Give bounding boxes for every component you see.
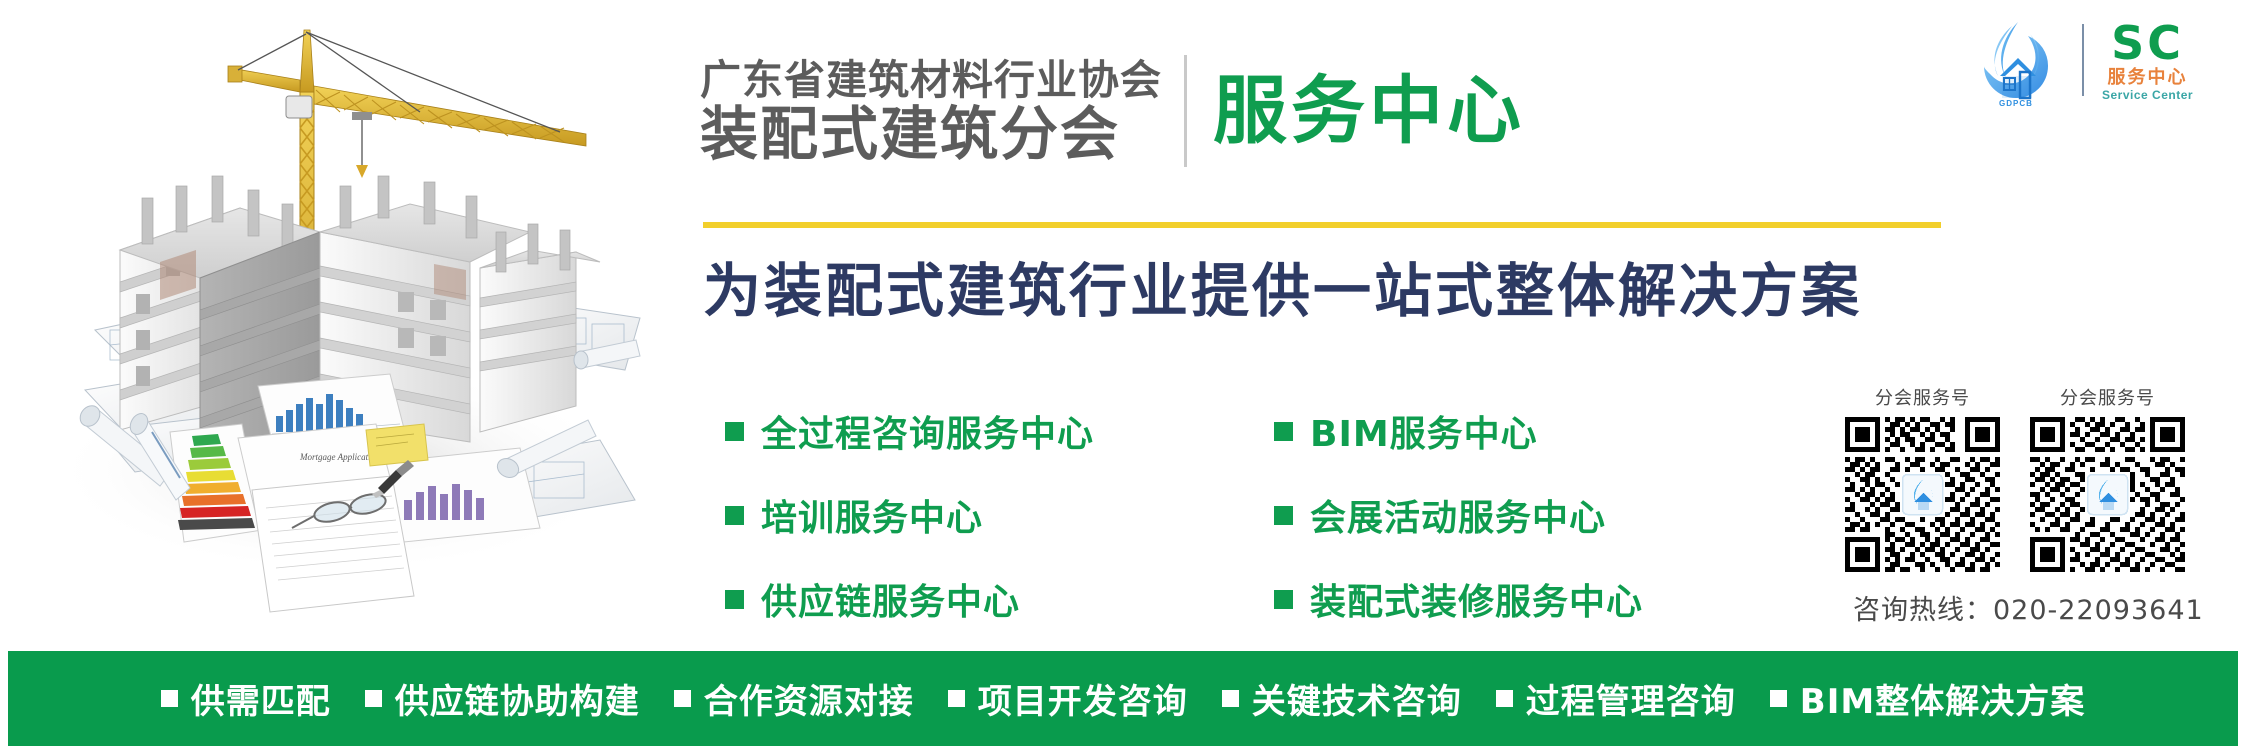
service-item-gongyinglian[interactable]: 供应链服务中心 <box>725 573 1094 625</box>
square-bullet-icon <box>674 690 691 707</box>
bar-item-partner-resource[interactable]: 合作资源对接 <box>674 674 914 723</box>
bar-item-label: 关键技术咨询 <box>1252 674 1462 723</box>
association-name: 广东省建筑材料行业协会 <box>700 60 1162 101</box>
branch-name: 装配式建筑分会 <box>700 105 1120 163</box>
service-item-label: 装配式装修服务中心 <box>1310 573 1643 625</box>
gdpcb-mark-caption: GDPCB <box>1968 99 2064 108</box>
bar-item-label: 供需匹配 <box>191 674 331 723</box>
brand-logo: GDPCB SC 服务中心 Service Center <box>1968 14 2193 106</box>
service-center-lists: 全过程咨询服务中心 培训服务中心 供应链服务中心 BIM服务中心 会展活动服务中… <box>725 405 1775 625</box>
gold-divider-rule <box>703 222 1941 228</box>
qr-code-glyph <box>1845 417 2000 572</box>
service-item-bim[interactable]: BIM服务中心 <box>1274 405 1643 457</box>
sc-lockup: SC 服务中心 Service Center <box>2102 20 2193 101</box>
bar-item-process-management[interactable]: 过程管理咨询 <box>1496 674 1736 723</box>
qr-code-icon[interactable] <box>1845 417 2000 572</box>
svg-text:Mortgage Application: Mortgage Application <box>299 452 380 462</box>
qr-contact-block: 分会服务号 <box>1845 384 2233 627</box>
square-bullet-icon <box>725 422 744 441</box>
service-column-right: BIM服务中心 会展活动服务中心 装配式装修服务中心 <box>1274 405 1643 625</box>
service-column-left: 全过程咨询服务中心 培训服务中心 供应链服务中心 <box>725 405 1094 625</box>
main-slogan: 为装配式建筑行业提供一站式整体解决方案 <box>703 255 1953 328</box>
bar-item-label: 过程管理咨询 <box>1526 674 1736 723</box>
hotline-text: 咨询热线：020-22093641 <box>1845 588 2233 627</box>
square-bullet-icon <box>1222 690 1239 707</box>
bar-item-supply-demand-match[interactable]: 供需匹配 <box>161 674 331 723</box>
square-bullet-icon <box>948 690 965 707</box>
bar-item-key-technology[interactable]: 关键技术咨询 <box>1222 674 1462 723</box>
qr-code-icon[interactable] <box>2030 417 2185 572</box>
bar-item-label: BIM整体解决方案 <box>1800 674 2085 723</box>
service-item-label: 会展活动服务中心 <box>1310 489 1606 541</box>
flame-house-icon: GDPCB <box>1968 14 2064 106</box>
qr-caption: 分会服务号 <box>2060 384 2155 410</box>
bar-item-project-development[interactable]: 项目开发咨询 <box>948 674 1188 723</box>
square-bullet-icon <box>1274 506 1293 525</box>
service-item-label: 全过程咨询服务中心 <box>761 405 1094 457</box>
bar-item-supply-chain-build[interactable]: 供应链协助构建 <box>365 674 640 723</box>
square-bullet-icon <box>365 690 382 707</box>
sticky-note <box>366 424 428 466</box>
bar-item-label: 合作资源对接 <box>704 674 914 723</box>
qr-cell-1: 分会服务号 <box>1845 384 2000 572</box>
square-bullet-icon <box>725 590 744 609</box>
square-bullet-icon <box>1274 590 1293 609</box>
service-item-peixun[interactable]: 培训服务中心 <box>725 489 1094 541</box>
square-bullet-icon <box>1274 422 1293 441</box>
qr-code-glyph <box>2030 417 2185 572</box>
qr-caption: 分会服务号 <box>1875 384 1970 410</box>
service-item-zhuangxiu[interactable]: 装配式装修服务中心 <box>1274 573 1643 625</box>
qr-row: 分会服务号 <box>1845 384 2233 572</box>
square-bullet-icon <box>1496 690 1513 707</box>
header-block: 广东省建筑材料行业协会 装配式建筑分会 服务中心 <box>700 36 1950 186</box>
construction-scene-illustration: Mortgage Application <box>0 0 660 655</box>
square-bullet-icon <box>161 690 178 707</box>
service-item-label: 培训服务中心 <box>761 489 983 541</box>
service-item-label: BIM服务中心 <box>1310 405 1538 457</box>
sc-letters: SC <box>2111 20 2184 66</box>
page-title: 服务中心 <box>1213 74 1525 148</box>
square-bullet-icon <box>1770 690 1787 707</box>
square-bullet-icon <box>725 506 744 525</box>
header-divider <box>1184 55 1187 167</box>
bar-item-label: 供应链协助构建 <box>395 674 640 723</box>
flame-house-glyph <box>1968 14 2064 106</box>
bottom-capability-bar: 供需匹配 供应链协助构建 合作资源对接 项目开发咨询 关键技术咨询 过程管理咨询… <box>8 651 2238 746</box>
sc-chinese-label: 服务中心 <box>2108 69 2188 87</box>
bar-item-bim-solution[interactable]: BIM整体解决方案 <box>1770 674 2085 723</box>
hero-image: Mortgage Application <box>0 0 660 655</box>
qr-cell-2: 分会服务号 <box>2030 384 2185 572</box>
service-item-quanguocheng[interactable]: 全过程咨询服务中心 <box>725 405 1094 457</box>
service-item-label: 供应链服务中心 <box>761 573 1020 625</box>
organization-names: 广东省建筑材料行业协会 装配式建筑分会 <box>700 60 1162 163</box>
logo-divider <box>2082 24 2084 96</box>
sc-english-label: Service Center <box>2102 89 2193 101</box>
service-item-huizhan[interactable]: 会展活动服务中心 <box>1274 489 1643 541</box>
bar-item-label: 项目开发咨询 <box>978 674 1188 723</box>
